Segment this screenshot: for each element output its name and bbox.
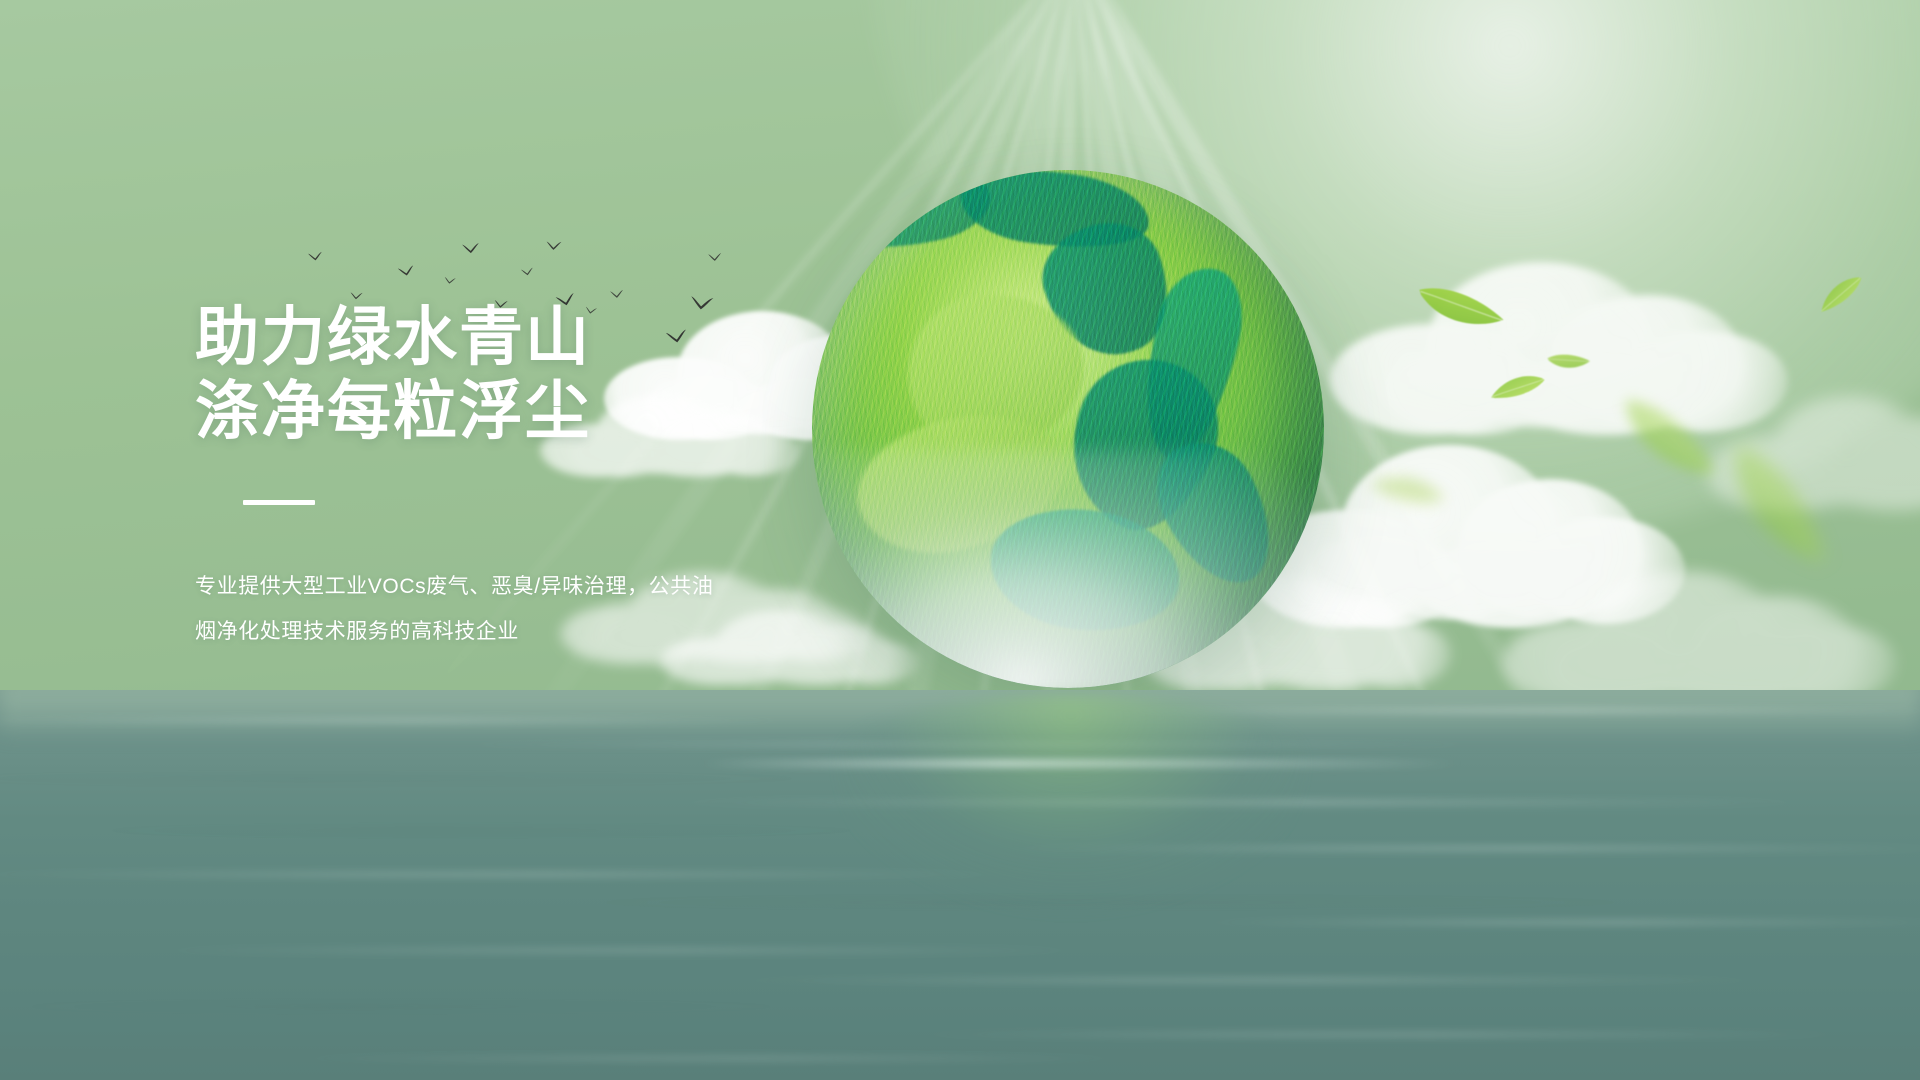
leaf-icon: [1545, 350, 1592, 377]
bird-icon: [444, 276, 457, 285]
leaf-icon: [1408, 273, 1507, 350]
cloud-puff: [1692, 596, 1859, 700]
bird-icon: [462, 242, 481, 254]
bird-icon: [308, 251, 324, 262]
water-ripple: [880, 1032, 1880, 1037]
leaf-icon: [1708, 428, 1834, 590]
cloud-puff: [1525, 517, 1685, 623]
headline-line-2: 涤净每粒浮尘: [195, 374, 895, 448]
water-ripple: [120, 948, 1120, 953]
headline-divider: [243, 500, 315, 505]
water-ripple: [700, 978, 1800, 983]
cloud-puff: [1826, 456, 1920, 511]
banner-description: 专业提供大型工业VOCs废气、恶臭/异味治理，公共油烟净化处理技术服务的高科技企…: [195, 565, 735, 654]
cloud-puff: [1416, 540, 1609, 627]
banner-copy: 助力绿水青山 涤净每粒浮尘 专业提供大型工业VOCs废气、恶臭/异味治理，公共油…: [195, 300, 895, 655]
bird-icon: [546, 241, 562, 252]
leaf-icon: [1367, 458, 1451, 515]
water-ripple: [0, 1004, 860, 1009]
bird-icon: [610, 289, 625, 299]
hero-banner: 助力绿水青山 涤净每粒浮尘 专业提供大型工业VOCs废气、恶臭/异味治理，公共油…: [0, 0, 1920, 1080]
bird-icon: [708, 253, 722, 262]
leaf-icon: [1486, 367, 1547, 401]
leaf-icon: [1605, 382, 1723, 505]
cloud-puff: [1856, 417, 1920, 506]
bird-icon: [397, 265, 416, 278]
reflection-highlight: [700, 760, 1460, 767]
banner-headline: 助力绿水青山 涤净每粒浮尘: [195, 300, 895, 448]
bird-icon: [521, 267, 535, 277]
cloud-puff: [1904, 441, 1920, 508]
headline-line-1: 助力绿水青山: [195, 300, 895, 374]
cloud-puff: [1586, 571, 1784, 700]
cloud: [1502, 560, 1882, 700]
water-ripple: [260, 1056, 1160, 1061]
cloud: [1330, 248, 1770, 428]
cloud-puff: [1458, 479, 1643, 620]
water-ripple: [40, 828, 940, 833]
water-ripple: [0, 776, 880, 781]
water-ripple: [1180, 920, 1920, 925]
leaf-icon: [1810, 267, 1868, 315]
cloud-puff: [1338, 621, 1452, 688]
water-ripple: [0, 718, 820, 723]
